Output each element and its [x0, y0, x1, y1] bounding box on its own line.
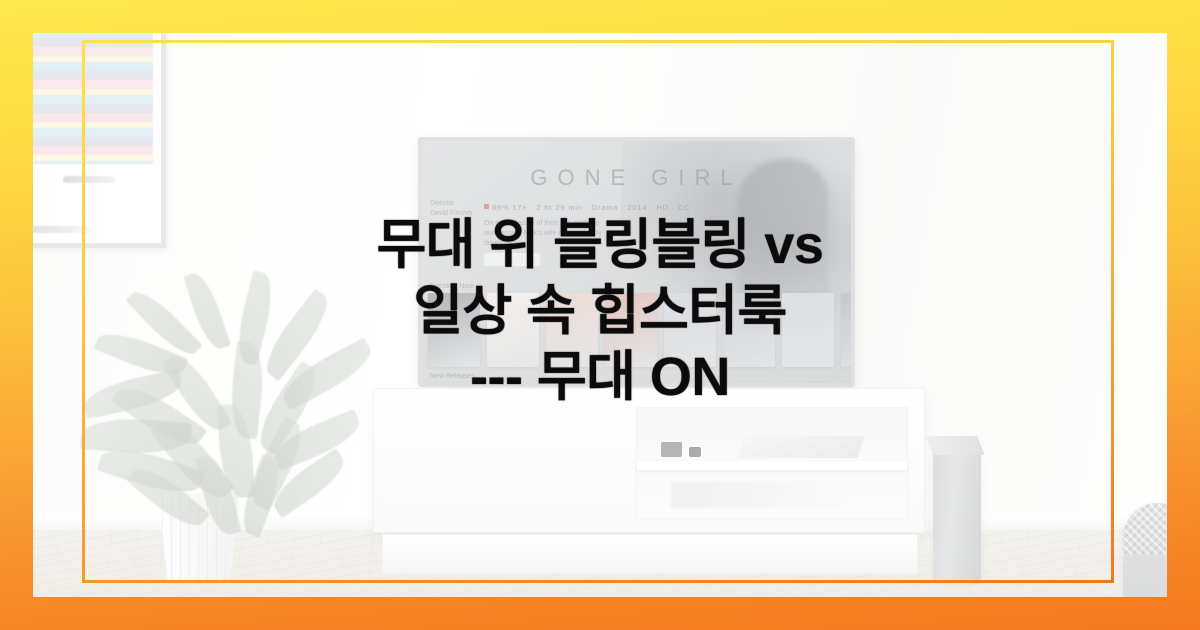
- tv-play-button[interactable]: [484, 253, 540, 266]
- tv-director-label: Director: [430, 199, 473, 209]
- tv-poster[interactable]: [664, 293, 716, 367]
- tv-screen: GONE GIRL Director David Fincher 88% 17+…: [422, 141, 851, 383]
- artwork-signature: [63, 176, 115, 183]
- tv-poster[interactable]: [841, 293, 851, 367]
- speaker-tower: [933, 453, 981, 580]
- tv-director-name: David Fincher: [430, 209, 473, 219]
- console-lower-item: [671, 482, 851, 508]
- tv-metadata-line: 88% 17+ · 2 hr 29 min · Drama · 2014 · H…: [484, 203, 690, 212]
- tv-poster[interactable]: [782, 293, 834, 367]
- console-plinth: [382, 534, 918, 574]
- console-remote: [689, 447, 701, 457]
- console-device: [661, 442, 682, 457]
- knitted-pouf: [1123, 503, 1167, 597]
- tv-poster[interactable]: [723, 293, 775, 367]
- tv-poster-row-0[interactable]: [428, 293, 851, 367]
- tv-console: [373, 388, 925, 533]
- match-dot-icon: [484, 204, 489, 209]
- artwork-stripes: [33, 33, 153, 164]
- tv-director: Director David Fincher: [430, 199, 473, 219]
- television: GONE GIRL Director David Fincher 88% 17+…: [418, 137, 855, 387]
- tv-row-label-0: Trending Now: [430, 283, 473, 290]
- photo-plate: GONE GIRL Director David Fincher 88% 17+…: [33, 33, 1167, 597]
- background-photo: GONE GIRL Director David Fincher 88% 17+…: [33, 33, 1167, 597]
- tv-poster[interactable]: [487, 293, 539, 367]
- thumbnail-canvas: GONE GIRL Director David Fincher 88% 17+…: [0, 0, 1200, 630]
- tv-description: On the occasion of their fifth wedding a…: [484, 219, 614, 249]
- console-shelf: [637, 461, 907, 470]
- tv-poster[interactable]: [605, 293, 657, 367]
- framed-artwork: [33, 33, 166, 248]
- tv-meta-text: 88% 17+ · 2 hr 29 min · Drama · 2014 · H…: [492, 203, 690, 212]
- speaker-top-face: [925, 436, 985, 455]
- tv-row-label-1: New Releases: [430, 373, 475, 380]
- tv-show-title: GONE GIRL: [530, 165, 742, 191]
- tv-poster[interactable]: [546, 293, 598, 367]
- artwork-caption: [33, 226, 91, 233]
- tv-poster[interactable]: [428, 293, 480, 367]
- console-tray: [737, 436, 864, 458]
- console-shelf-box: [636, 407, 908, 519]
- potted-plant: [81, 283, 351, 583]
